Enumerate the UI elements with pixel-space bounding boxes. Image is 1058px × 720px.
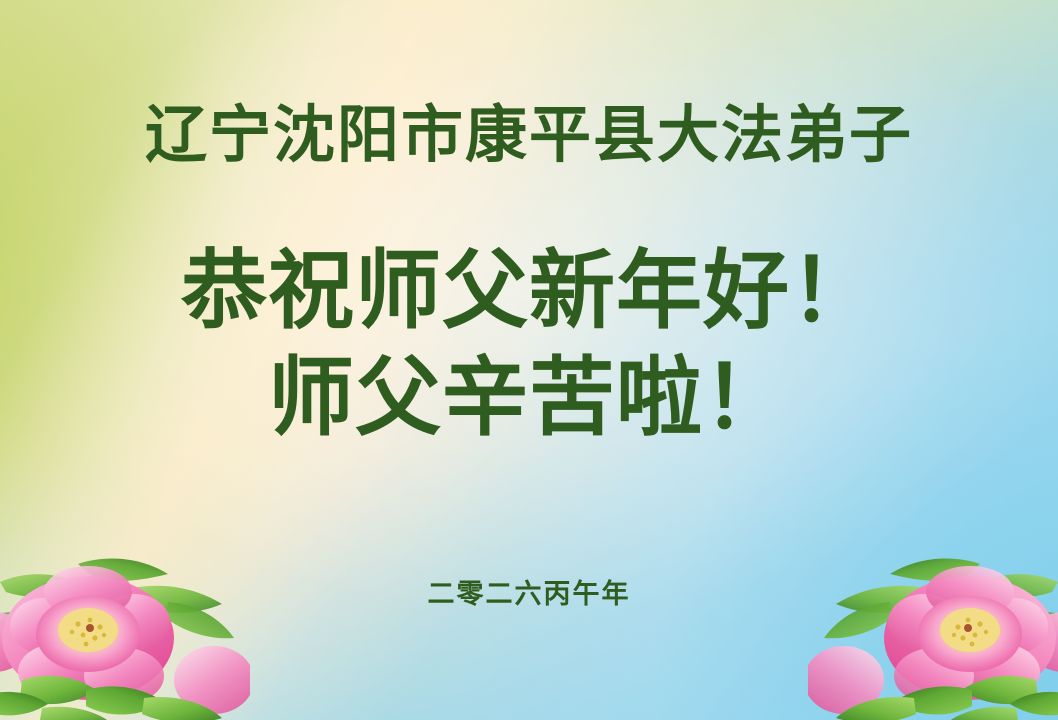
greeting-text-block: 辽宁沈阳市康平县大法弟子 恭祝师父新年好！ 师父辛苦啦！ 二零二六丙午年 xyxy=(0,0,1058,720)
wish-line-primary: 恭祝师父新年好！ xyxy=(0,245,1058,338)
date-line: 二零二六丙午年 xyxy=(0,572,1058,611)
wish-line-secondary: 师父辛苦啦！ xyxy=(0,352,1058,445)
greeting-card: 辽宁沈阳市康平县大法弟子 恭祝师父新年好！ 师父辛苦啦！ 二零二六丙午年 xyxy=(0,0,1058,720)
sender-line: 辽宁沈阳市康平县大法弟子 xyxy=(0,104,1058,169)
